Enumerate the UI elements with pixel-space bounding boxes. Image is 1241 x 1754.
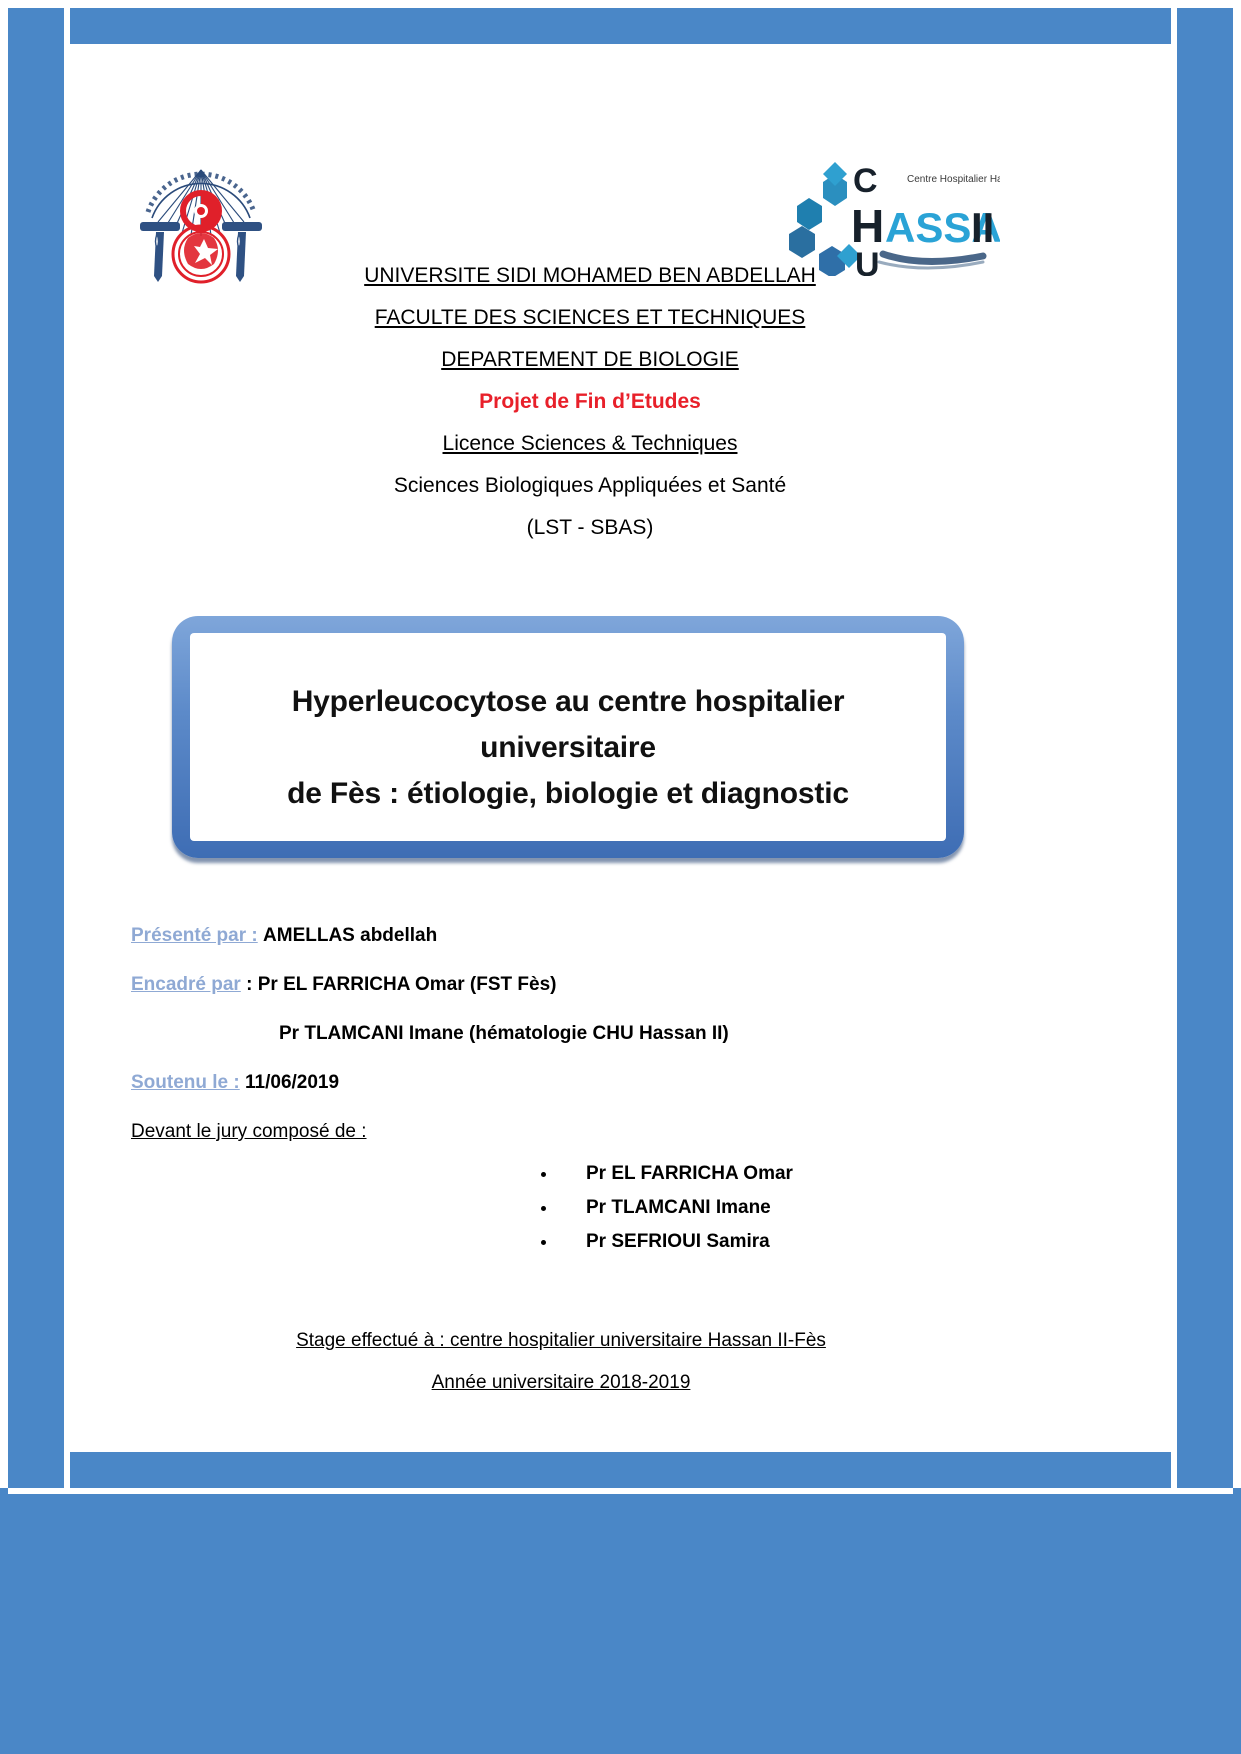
- presented-by-value: AMELLAS abdellah: [263, 925, 437, 946]
- list-item: Pr SEFRIOUI Samira: [558, 1225, 1111, 1259]
- thesis-title-line1: Hyperleucocytose au centre hospitalier u…: [203, 679, 933, 771]
- svg-text:II: II: [971, 204, 994, 251]
- defended-value: 11/06/2019: [245, 1072, 339, 1093]
- supervised-by-colon: :: [241, 974, 258, 995]
- list-item: Pr EL FARRICHA Omar: [558, 1157, 1111, 1191]
- header-project-label: Projet de Fin d’Etudes: [190, 381, 990, 423]
- header-program-code: (LST - SBAS): [190, 507, 990, 549]
- header-degree: Licence Sciences & Techniques: [190, 423, 990, 465]
- header-block: UNIVERSITE SIDI MOHAMED BEN ABDELLAH FAC…: [190, 255, 990, 549]
- footer-academic-year: Année universitaire 2018-2019: [131, 1362, 991, 1404]
- details-block: Présenté par : AMELLAS abdellah Encadré …: [131, 925, 1111, 1259]
- supervisor-2: Pr TLAMCANI Imane (hématologie CHU Hassa…: [279, 1023, 1111, 1045]
- svg-text:C: C: [853, 162, 878, 200]
- thesis-title-box: Hyperleucocytose au centre hospitalier u…: [172, 616, 964, 858]
- footer-internship: Stage effectué à : centre hospitalier un…: [131, 1320, 991, 1362]
- defended-label: Soutenu le :: [131, 1072, 240, 1093]
- header-line-university: UNIVERSITE SIDI MOHAMED BEN ABDELLAH: [190, 255, 990, 297]
- supervisor-1: Pr EL FARRICHA Omar (FST Fès): [258, 974, 557, 995]
- svg-text:Centre Hospitalier Hassan II-: Centre Hospitalier Hassan II- Fès: [907, 174, 1000, 185]
- thesis-title: Hyperleucocytose au centre hospitalier u…: [203, 679, 933, 817]
- supervised-by-row: Encadré par : Pr EL FARRICHA Omar (FST F…: [131, 974, 1111, 996]
- cover-page: C H U ASSAN II Centre Hospitalier Hassan…: [0, 0, 1241, 1754]
- list-item: Pr TLAMCANI Imane: [558, 1191, 1111, 1225]
- supervised-by-label: Encadré par: [131, 974, 241, 995]
- jury-intro: Devant le jury composé de :: [131, 1121, 1111, 1143]
- thesis-title-line2: de Fès : étiologie, biologie et diagnost…: [203, 771, 933, 817]
- header-line-faculty: FACULTE DES SCIENCES ET TECHNIQUES: [190, 297, 990, 339]
- presented-by-row: Présenté par : AMELLAS abdellah: [131, 925, 1111, 947]
- footer-block: Stage effectué à : centre hospitalier un…: [131, 1320, 991, 1404]
- svg-text:H: H: [851, 200, 884, 252]
- presented-by-label: Présenté par :: [131, 925, 258, 946]
- thesis-title-inner: Hyperleucocytose au centre hospitalier u…: [190, 633, 946, 841]
- header-line-department: DEPARTEMENT DE BIOLOGIE: [190, 339, 990, 381]
- header-program: Sciences Biologiques Appliquées et Santé: [190, 465, 990, 507]
- jury-list: Pr EL FARRICHA Omar Pr TLAMCANI Imane Pr…: [536, 1157, 1111, 1259]
- defended-row: Soutenu le : 11/06/2019: [131, 1072, 1111, 1094]
